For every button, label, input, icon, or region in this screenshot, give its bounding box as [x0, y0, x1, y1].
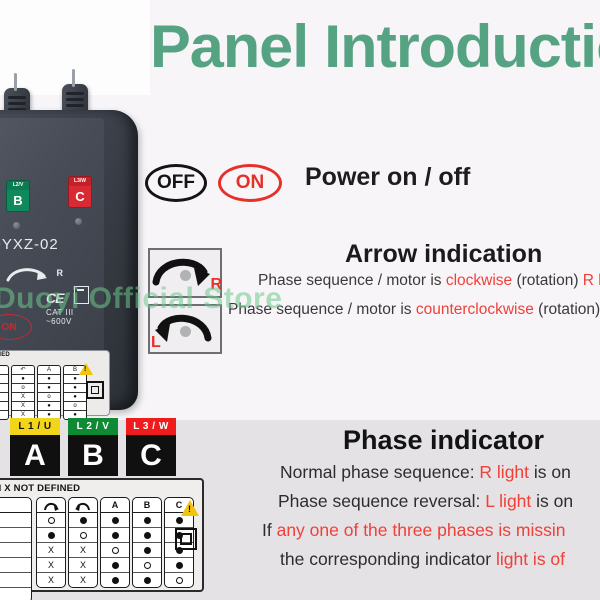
phase-legend-c: L 3 / W C [126, 418, 176, 476]
truth-row-label: .Left [0, 543, 31, 558]
terminal-b-caption: L2/V [7, 181, 29, 190]
truth-cell [101, 573, 129, 587]
screenshot-root: Panel Introduction L2/V B L3/W C DYX [0, 0, 600, 600]
device-model-label: DYXZ-02 [0, 236, 59, 253]
truth-cell [133, 543, 161, 558]
arrow-indication-heading: Arrow indication [345, 240, 542, 269]
truth-cell [101, 513, 129, 528]
truth-cell: X [69, 543, 97, 558]
truth-col-counterclockwise: X X X [68, 497, 98, 588]
device-on-stamp: ON [0, 314, 32, 340]
clockwise-tag: R [210, 276, 222, 294]
phase-line4-a: the corresponding indicator [280, 549, 496, 569]
phase-line1-b: R light [479, 462, 529, 482]
phase-legend-c-top: L 3 / W [126, 418, 176, 435]
power-on-badge: ON [218, 164, 282, 202]
arrow-line1-c: (rotation) [512, 272, 583, 289]
truth-col-b: B [132, 497, 162, 588]
warning-triangle-icon [79, 363, 93, 375]
truth-cell: X [69, 558, 97, 573]
arrow-line-counterclockwise: Phase sequence / motor is counterclockwi… [228, 301, 600, 319]
power-off-badge: OFF [145, 164, 207, 202]
terminal-c-caption: L3/W [69, 177, 91, 186]
truth-row-label: SSING [0, 558, 31, 573]
device-faceplate: L2/V B L3/W C DYXZ-02 R CE CAT III~600V … [0, 118, 104, 388]
phase-legend-b-letter: B [68, 435, 118, 476]
phase-legend-b: L 2 / V B [68, 418, 118, 476]
arrow-line-clockwise: Phase sequence / motor is clockwise (rot… [258, 272, 600, 290]
phase-line-reversal: Phase sequence reversal: L light is on [278, 491, 573, 512]
device-cat-rating: CAT III~600V [46, 308, 74, 326]
truth-row-label: LAY [0, 513, 31, 528]
arrow-line2-c: (rotation) [534, 301, 600, 318]
phase-line3-a: If [262, 520, 277, 540]
truth-col-b-header: B [133, 498, 161, 513]
double-insulation-icon [175, 528, 197, 550]
truth-cell [165, 573, 193, 587]
phase-line2-b: L light [485, 491, 531, 511]
clockwise-arrow-box: R [148, 248, 222, 298]
phase-line1-a: Normal phase sequence: [280, 462, 479, 482]
power-heading: Power on / off [305, 163, 470, 192]
truth-row-label: SSING [0, 573, 31, 588]
truth-col-a-header: A [101, 498, 129, 513]
truth-cell [101, 528, 129, 543]
phase-legend-a-letter: A [10, 435, 60, 476]
counterclockwise-arc-icon [69, 498, 97, 513]
arrow-line2-b: counterclockwise [416, 301, 534, 318]
arrow-line1-d: R ligh [583, 272, 600, 289]
device-truth-table: X NOT DEFINED ↷o● XXX ↶●o XXX A●● o●● B●… [0, 350, 110, 416]
phase-legend-a-top: L 1 / U [10, 418, 60, 435]
truth-cell [101, 543, 129, 558]
truth-cell [133, 558, 161, 573]
phase-line-missing: If any one of the three phases is missin [262, 520, 566, 541]
device-terminal-b: L2/V B [6, 180, 30, 212]
phase-line3-b: any one of the three phases is missin [277, 520, 566, 540]
double-insulation-icon [86, 381, 104, 399]
terminal-b-letter: B [7, 190, 29, 211]
truth-cell [101, 558, 129, 573]
phase-legend-a: L 1 / U A [10, 418, 60, 476]
clockwise-arc-icon [37, 498, 65, 513]
truth-cell [133, 528, 161, 543]
truth-cell: X [37, 573, 65, 587]
arrow-line1-a: Phase sequence / motor is [258, 272, 446, 289]
ce-mark-icon: CE [46, 290, 63, 306]
counterclockwise-arrow-box: L [148, 304, 222, 354]
arrow-line2-a: Phase sequence / motor is [228, 301, 416, 318]
phase-indicator-heading: Phase indicator [343, 425, 544, 456]
warning-triangle-icon [181, 500, 199, 516]
truth-cell [133, 513, 161, 528]
device-rotation-arrow-icon: R [4, 264, 54, 282]
phase-legend-c-letter: C [126, 435, 176, 476]
truth-cell [133, 573, 161, 587]
truth-col-a: A [100, 497, 130, 588]
counterclockwise-tag: L [151, 334, 161, 352]
phase-line2-c: is on [531, 491, 573, 511]
truth-table-header: FF ●ON X NOT DEFINED [0, 483, 80, 494]
phase-line1-c: is on [529, 462, 571, 482]
device-terminal-c: L3/W C [68, 176, 92, 208]
truth-cell [69, 528, 97, 543]
truth-cell [37, 513, 65, 528]
device-led-c [75, 218, 82, 225]
truth-col-clockwise: X X X [36, 497, 66, 588]
phase-line-off: the corresponding indicator light is of [280, 549, 565, 570]
device-table-header: X NOT DEFINED [0, 351, 109, 358]
device-led-b [13, 222, 20, 229]
weee-bin-icon [74, 286, 89, 304]
page-title: Panel Introduction [150, 16, 600, 78]
truth-col-label-header [0, 498, 31, 513]
truth-cell: X [37, 543, 65, 558]
truth-cell [69, 513, 97, 528]
truth-col-labels: LAY .RIght .Left SSING SSING SSING [0, 497, 32, 600]
arrow-line1-b: clockwise [446, 272, 512, 289]
device-rotation-label: R [57, 268, 64, 278]
phase-truth-table: FF ●ON X NOT DEFINED LAY .RIght .Left SS… [0, 478, 204, 592]
truth-row-label: .RIght [0, 528, 31, 543]
truth-cell [165, 558, 193, 573]
background-white-corner [0, 0, 150, 95]
truth-cell: X [69, 573, 97, 587]
phase-line-normal: Normal phase sequence: R light is on [280, 462, 571, 483]
phase-line2-a: Phase sequence reversal: [278, 491, 485, 511]
phase-line4-c: ight is of [500, 549, 565, 569]
truth-cell [37, 528, 65, 543]
phase-legend-b-top: L 2 / V [68, 418, 118, 435]
truth-row-label: SSING [0, 588, 31, 600]
truth-cell: X [37, 558, 65, 573]
terminal-c-letter: C [69, 186, 91, 207]
device-photo: L2/V B L3/W C DYXZ-02 R CE CAT III~600V … [0, 88, 148, 418]
